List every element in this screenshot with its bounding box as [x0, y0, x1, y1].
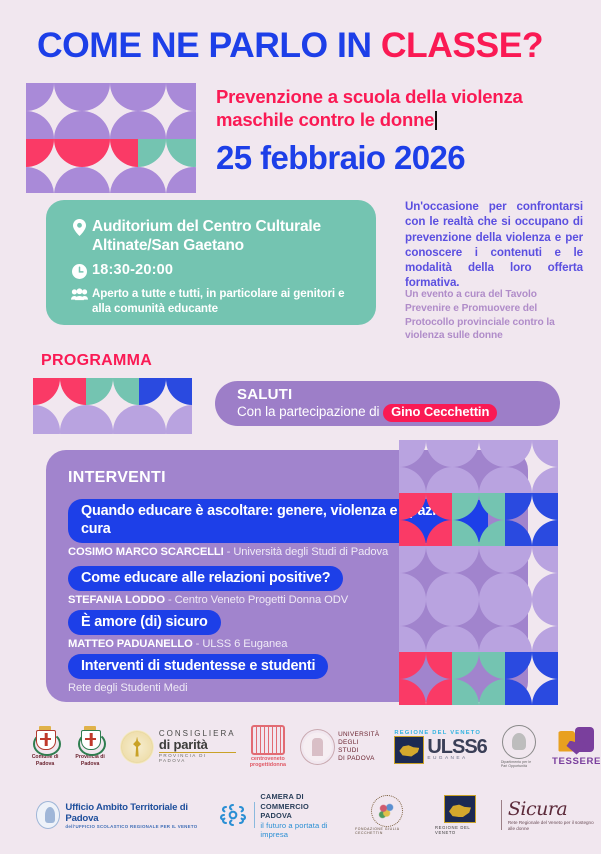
speaker-affiliation: Rete degli Studenti Medi [68, 682, 188, 694]
puzzle-heart-icon [558, 727, 594, 755]
intro-paragraph: Un'occasione per confrontarsi con le rea… [405, 199, 583, 291]
logo-caption: REGIONE DEL VENETO [435, 825, 485, 835]
time-text: 18:30-20:00 [92, 262, 173, 278]
logo-line-2: DEGLI STUDI [338, 739, 380, 755]
republic-emblem-icon [502, 725, 536, 759]
page-title: COME NE PARLO IN CLASSE? [37, 28, 577, 64]
logo-line-3: DI PADOVA [338, 755, 380, 763]
text-cursor [435, 111, 437, 130]
speaker-name: COSIMO MARCO SCARCELLI [68, 546, 224, 558]
logo-caption: Dipartimento per le Pari Opportunità [501, 760, 538, 768]
event-info-box: Auditorium del Centro Culturale Altinate… [46, 200, 376, 325]
logo-line-1: CAMERA DI COMMERCIO [260, 792, 339, 811]
saluti-lead: Con la partecipazione di [237, 404, 379, 419]
speaker-name: MATTEO PADUANELLO [68, 638, 193, 650]
clock-icon [66, 262, 92, 279]
logo-centro-veneto-progetti-donna: centroveneto progettidonna [250, 725, 286, 768]
logo-comune-di-padova: Comune di Padova [30, 726, 60, 766]
decorative-pattern-right [399, 440, 559, 705]
logo-line-1: UNIVERSITÀ [338, 731, 380, 739]
logo-word: TESSERE [552, 756, 601, 767]
subtitle-line-1: Prevenzione a scuola della violenza [216, 86, 523, 107]
people-group-icon [66, 286, 92, 301]
decorative-pattern-programma [33, 378, 193, 434]
logo-sicura: Sicura Rete Regionale del Veneto per il … [501, 798, 601, 832]
logo-line-2: PADOVA [260, 811, 339, 821]
talk-title: È amore (di) sicuro [68, 610, 221, 635]
logo-line-3: il futuro a portata di impresa [260, 821, 339, 839]
logo-provincia-di-padova: Provincia di Padova [74, 726, 106, 766]
audience-row: Aperto a tutte e tutti, in particolare a… [66, 286, 366, 316]
decorative-pattern-top-left [26, 83, 196, 193]
organizer-credit: Un evento a cura del Tavolo Prevenire e … [405, 288, 583, 343]
logo-ufficio-ambito-territoriale-di-padova: Ufficio Ambito Territoriale di Padova de… [36, 801, 202, 829]
venue-row: Auditorium del Centro Culturale Altinate… [66, 217, 366, 256]
consigliera-emblem [120, 730, 154, 764]
camera-commercio-glyph-icon [218, 800, 248, 830]
poster-root: COME NE PARLO IN CLASSE? Prevenzione a s… [0, 0, 601, 854]
speaker-affiliation: - Università degli Studi di Padova [224, 546, 388, 558]
interventi-heading: INTERVENTI [68, 469, 166, 487]
logo-consigliera-di-parita: CONSIGLIERA di parità PROVINCIA DI PADOV… [120, 730, 236, 764]
logo-sub: Rete Regionale del Veneto per il sostegn… [508, 820, 601, 832]
guest-badge: Gino Cecchettin [383, 404, 497, 422]
audience-text: Aperto a tutte e tutti, in particolare a… [92, 286, 366, 316]
logo-row-2: Ufficio Ambito Territoriale di Padova de… [36, 792, 601, 839]
map-pin-icon [66, 217, 92, 236]
maze-icon [251, 725, 285, 755]
logo-fondazione-giulia-cecchettin: FONDAZIONE GIULIA CECCHETTIN [355, 795, 419, 835]
logo-universita-degli-studi-di-padova: UNIVERSITÀ DEGLI STUDI DI PADOVA [300, 729, 380, 765]
logo-line-1: Ufficio Ambito Territoriale di Padova [65, 802, 201, 824]
logo-word: ULSS6 [427, 738, 486, 757]
saluti-bar: SALUTI Con la partecipazione di Gino Cec… [215, 381, 560, 426]
winged-lion-icon [444, 795, 476, 823]
event-date: 25 febbraio 2026 [216, 139, 465, 177]
venue-text: Auditorium del Centro Culturale Altinate… [92, 217, 366, 256]
logo-regione-del-veneto: REGIONE DEL VENETO [435, 795, 485, 835]
logo-tessere: TESSERE [552, 727, 601, 767]
programma-heading: PROGRAMMA [41, 352, 152, 370]
title-part-2: CLASSE? [381, 25, 543, 65]
logo-camera-di-commercio-padova: CAMERA DI COMMERCIO PADOVA il futuro a p… [218, 792, 340, 839]
speaker-affiliation: - ULSS 6 Euganea [193, 638, 288, 650]
flower-basket-icon [371, 795, 403, 827]
logo-row-1: Comune di Padova Provincia di Padova CON… [30, 725, 601, 768]
speaker-affiliation: - Centro Veneto Progetti Donna ODV [165, 594, 348, 606]
subtitle: Prevenzione a scuola della violenza masc… [216, 86, 584, 131]
talk-title: Interventi di studentesse e studenti [68, 654, 328, 679]
saluti-heading: SALUTI [237, 386, 292, 403]
logo-line-2: di parità [159, 738, 236, 751]
logo-word: Sicura [508, 798, 601, 820]
logo-line-2: dell'UFFICIO SCOLASTICO REGIONALE PER IL… [65, 824, 201, 829]
logo-caption: Comune di Padova [30, 754, 60, 766]
republic-emblem-icon [36, 801, 60, 829]
subtitle-line-2: maschile contro le donne [216, 109, 434, 130]
talk-title: Come educare alle relazioni positive? [68, 566, 343, 591]
winged-lion-icon [394, 736, 424, 764]
speaker-name: STEFANIA LODDO [68, 594, 165, 606]
logo-line-3: PROVINCIA DI PADOVA [159, 752, 236, 763]
saluti-subline: Con la partecipazione di Gino Cecchettin [237, 404, 497, 422]
time-row: 18:30-20:00 [66, 262, 173, 279]
university-seal [300, 729, 335, 765]
logo-dipartimento-pari-opportunita: Dipartimento per le Pari Opportunità [501, 725, 538, 768]
logo-ulss-6-euganea: REGIONE DEL VENETO ULSS6 EUGANEA [394, 730, 486, 764]
logo-caption: Provincia di Padova [74, 754, 106, 766]
title-part-1: COME NE PARLO IN [37, 25, 381, 65]
logo-caption: FONDAZIONE GIULIA CECCHETTIN [355, 827, 419, 835]
logo-line-2: progettidonna [250, 762, 286, 768]
